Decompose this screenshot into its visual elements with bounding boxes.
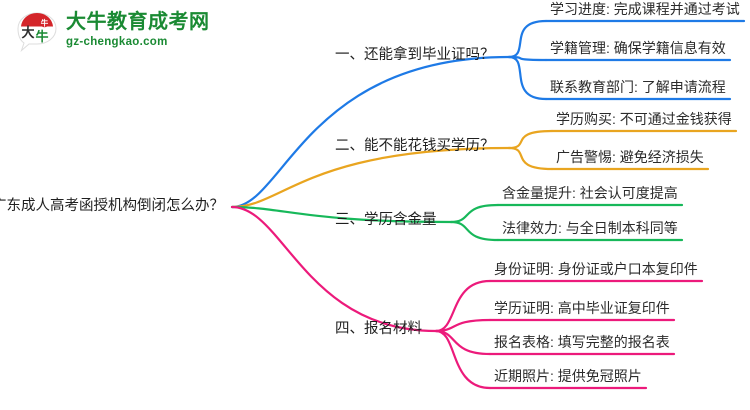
leaf-label-1-3[interactable]: 联系教育部门: 了解申请流程: [550, 80, 726, 94]
root-label[interactable]: 广东成人高考函授机构倒闭怎么办？: [0, 199, 224, 214]
leaf-label-2-2[interactable]: 广告警惕: 避免经济损失: [556, 150, 704, 164]
leaf-connector-4-4: [436, 331, 490, 388]
leaf-label-1-2[interactable]: 学籍管理: 确保学籍信息有效: [550, 41, 726, 55]
leaf-connector-2-1: [509, 131, 552, 148]
branch-label-4[interactable]: 四、报名材料: [335, 322, 422, 337]
leaf-connector-3-1: [451, 205, 498, 222]
leaf-label-3-2[interactable]: 法律效力: 与全日制本科同等: [502, 221, 678, 235]
branch-label-1[interactable]: 一、还能拿到毕业证吗？: [335, 48, 495, 63]
leaf-label-2-1[interactable]: 学历购买: 不可通过金钱获得: [556, 112, 732, 126]
leaf-label-4-1[interactable]: 身份证明: 身份证或户口本复印件: [494, 262, 698, 276]
branch-spine-1: [232, 57, 509, 207]
leaf-connector-3-2: [451, 222, 498, 240]
leaf-connector-1-1: [509, 21, 546, 57]
branch-label-2[interactable]: 二、能不能花钱买学历？: [335, 139, 495, 154]
leaf-connector-1-3: [509, 57, 546, 99]
branch-label-3[interactable]: 三、学历含金量: [335, 213, 437, 228]
leaf-connector-2-2: [509, 148, 552, 169]
leaf-label-4-2[interactable]: 学历证明: 高中毕业证复印件: [494, 301, 670, 315]
leaf-connector-4-2: [436, 320, 490, 331]
leaf-label-4-3[interactable]: 报名表格: 填写完整的报名表: [494, 335, 670, 349]
leaf-label-4-4[interactable]: 近期照片: 提供免冠照片: [494, 369, 642, 383]
leaf-label-3-1[interactable]: 含金量提升: 社会认可度提高: [502, 186, 678, 200]
leaf-label-1-1[interactable]: 学习进度: 完成课程并通过考试: [550, 2, 740, 16]
